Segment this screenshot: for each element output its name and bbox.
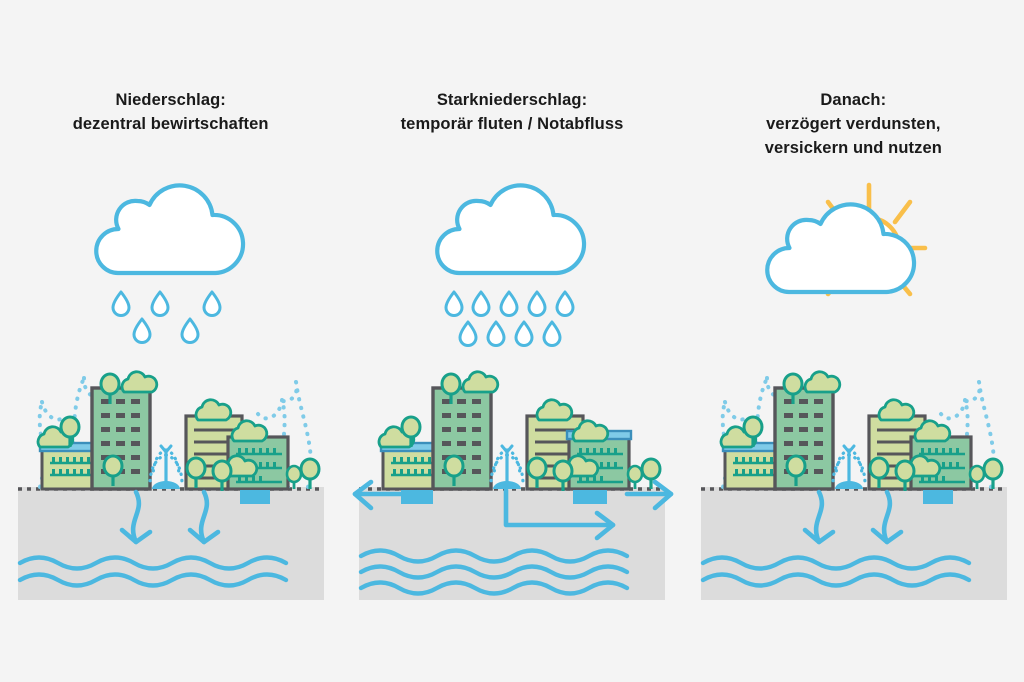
raindrop-group-row1 — [113, 292, 220, 315]
panel-artwork-afterwards — [683, 0, 1024, 682]
infographic-root: Niederschlag: dezentral bewirtschaften — [0, 0, 1024, 682]
fountain — [833, 446, 865, 489]
tall-tower — [775, 372, 840, 489]
cistern-tank-right — [573, 490, 607, 504]
panel-container: Niederschlag: dezentral bewirtschaften — [0, 0, 1024, 682]
cistern-tank-left — [401, 490, 433, 504]
rain-cloud-icon — [96, 185, 243, 273]
panel-heavy-precipitation: Starkniederschlag: temporär fluten / Not… — [341, 0, 682, 682]
city-skyline — [379, 372, 660, 491]
raindrop-group-row1 — [446, 292, 573, 315]
panel-artwork-precipitation — [0, 0, 341, 682]
cistern-tank — [240, 490, 270, 504]
tall-tower — [433, 372, 498, 489]
fountain — [491, 446, 523, 489]
heavy-rain-cloud-icon — [438, 185, 585, 273]
panel-afterwards: Danach: verzögert verdunsten, versickern… — [683, 0, 1024, 682]
raindrop-group-row2 — [134, 319, 198, 342]
cloud-icon — [767, 204, 914, 292]
cistern-tank — [923, 490, 953, 504]
tall-tower — [92, 372, 157, 489]
street-trees-right — [970, 459, 1002, 489]
raindrop-group-row2 — [460, 322, 560, 345]
panel-precipitation: Niederschlag: dezentral bewirtschaften — [0, 0, 341, 682]
fountain — [150, 446, 182, 489]
panel-artwork-heavy-precipitation — [341, 0, 682, 682]
street-trees-right — [287, 459, 319, 489]
